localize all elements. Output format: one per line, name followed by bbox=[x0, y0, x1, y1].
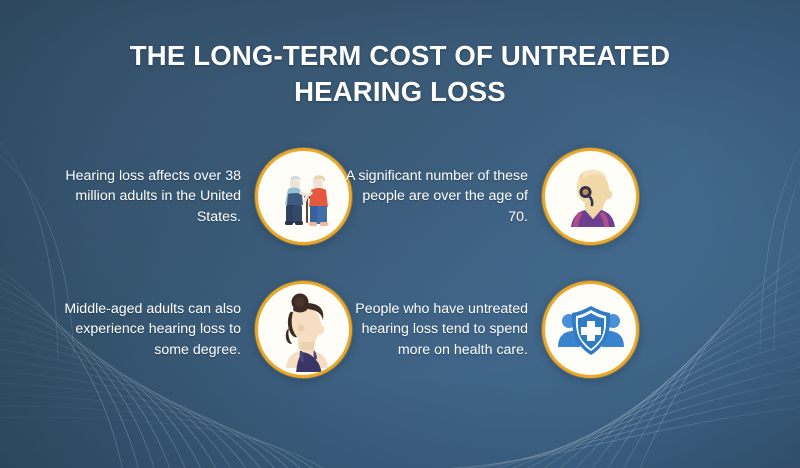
page-title-line-1: THE LONG-TERM COST OF UNTREATED bbox=[60, 38, 740, 74]
infographic-canvas: THE LONG-TERM COST OF UNTREATED HEARING … bbox=[0, 0, 800, 468]
fact-item-2: A significant number of these people are… bbox=[345, 148, 639, 245]
fact-text-2: A significant number of these people are… bbox=[345, 166, 542, 226]
elderly-couple-icon bbox=[255, 148, 352, 245]
fact-text-3: Middle-aged adults can also experience h… bbox=[58, 299, 255, 359]
fact-item-3: Middle-aged adults can also experience h… bbox=[58, 281, 352, 378]
fact-text-4: People who have untreated hearing loss t… bbox=[345, 299, 542, 359]
fact-item-4: People who have untreated hearing loss t… bbox=[345, 281, 639, 378]
health-care-shield-icon bbox=[542, 281, 639, 378]
fact-item-1: Hearing loss affects over 38 million adu… bbox=[58, 148, 352, 245]
senior-with-hearing-aid-icon bbox=[542, 148, 639, 245]
senior-with-hearing-aid-icon-glyph bbox=[549, 155, 633, 239]
page-title-line-2: HEARING LOSS bbox=[60, 74, 740, 110]
fact-text-1: Hearing loss affects over 38 million adu… bbox=[58, 166, 255, 226]
middle-aged-woman-profile-icon bbox=[255, 281, 352, 378]
elderly-couple-icon-glyph bbox=[268, 161, 340, 233]
page-title: THE LONG-TERM COST OF UNTREATED HEARING … bbox=[0, 38, 800, 110]
middle-aged-woman-profile-icon-glyph bbox=[262, 288, 346, 372]
health-care-shield-icon-glyph bbox=[556, 295, 626, 365]
